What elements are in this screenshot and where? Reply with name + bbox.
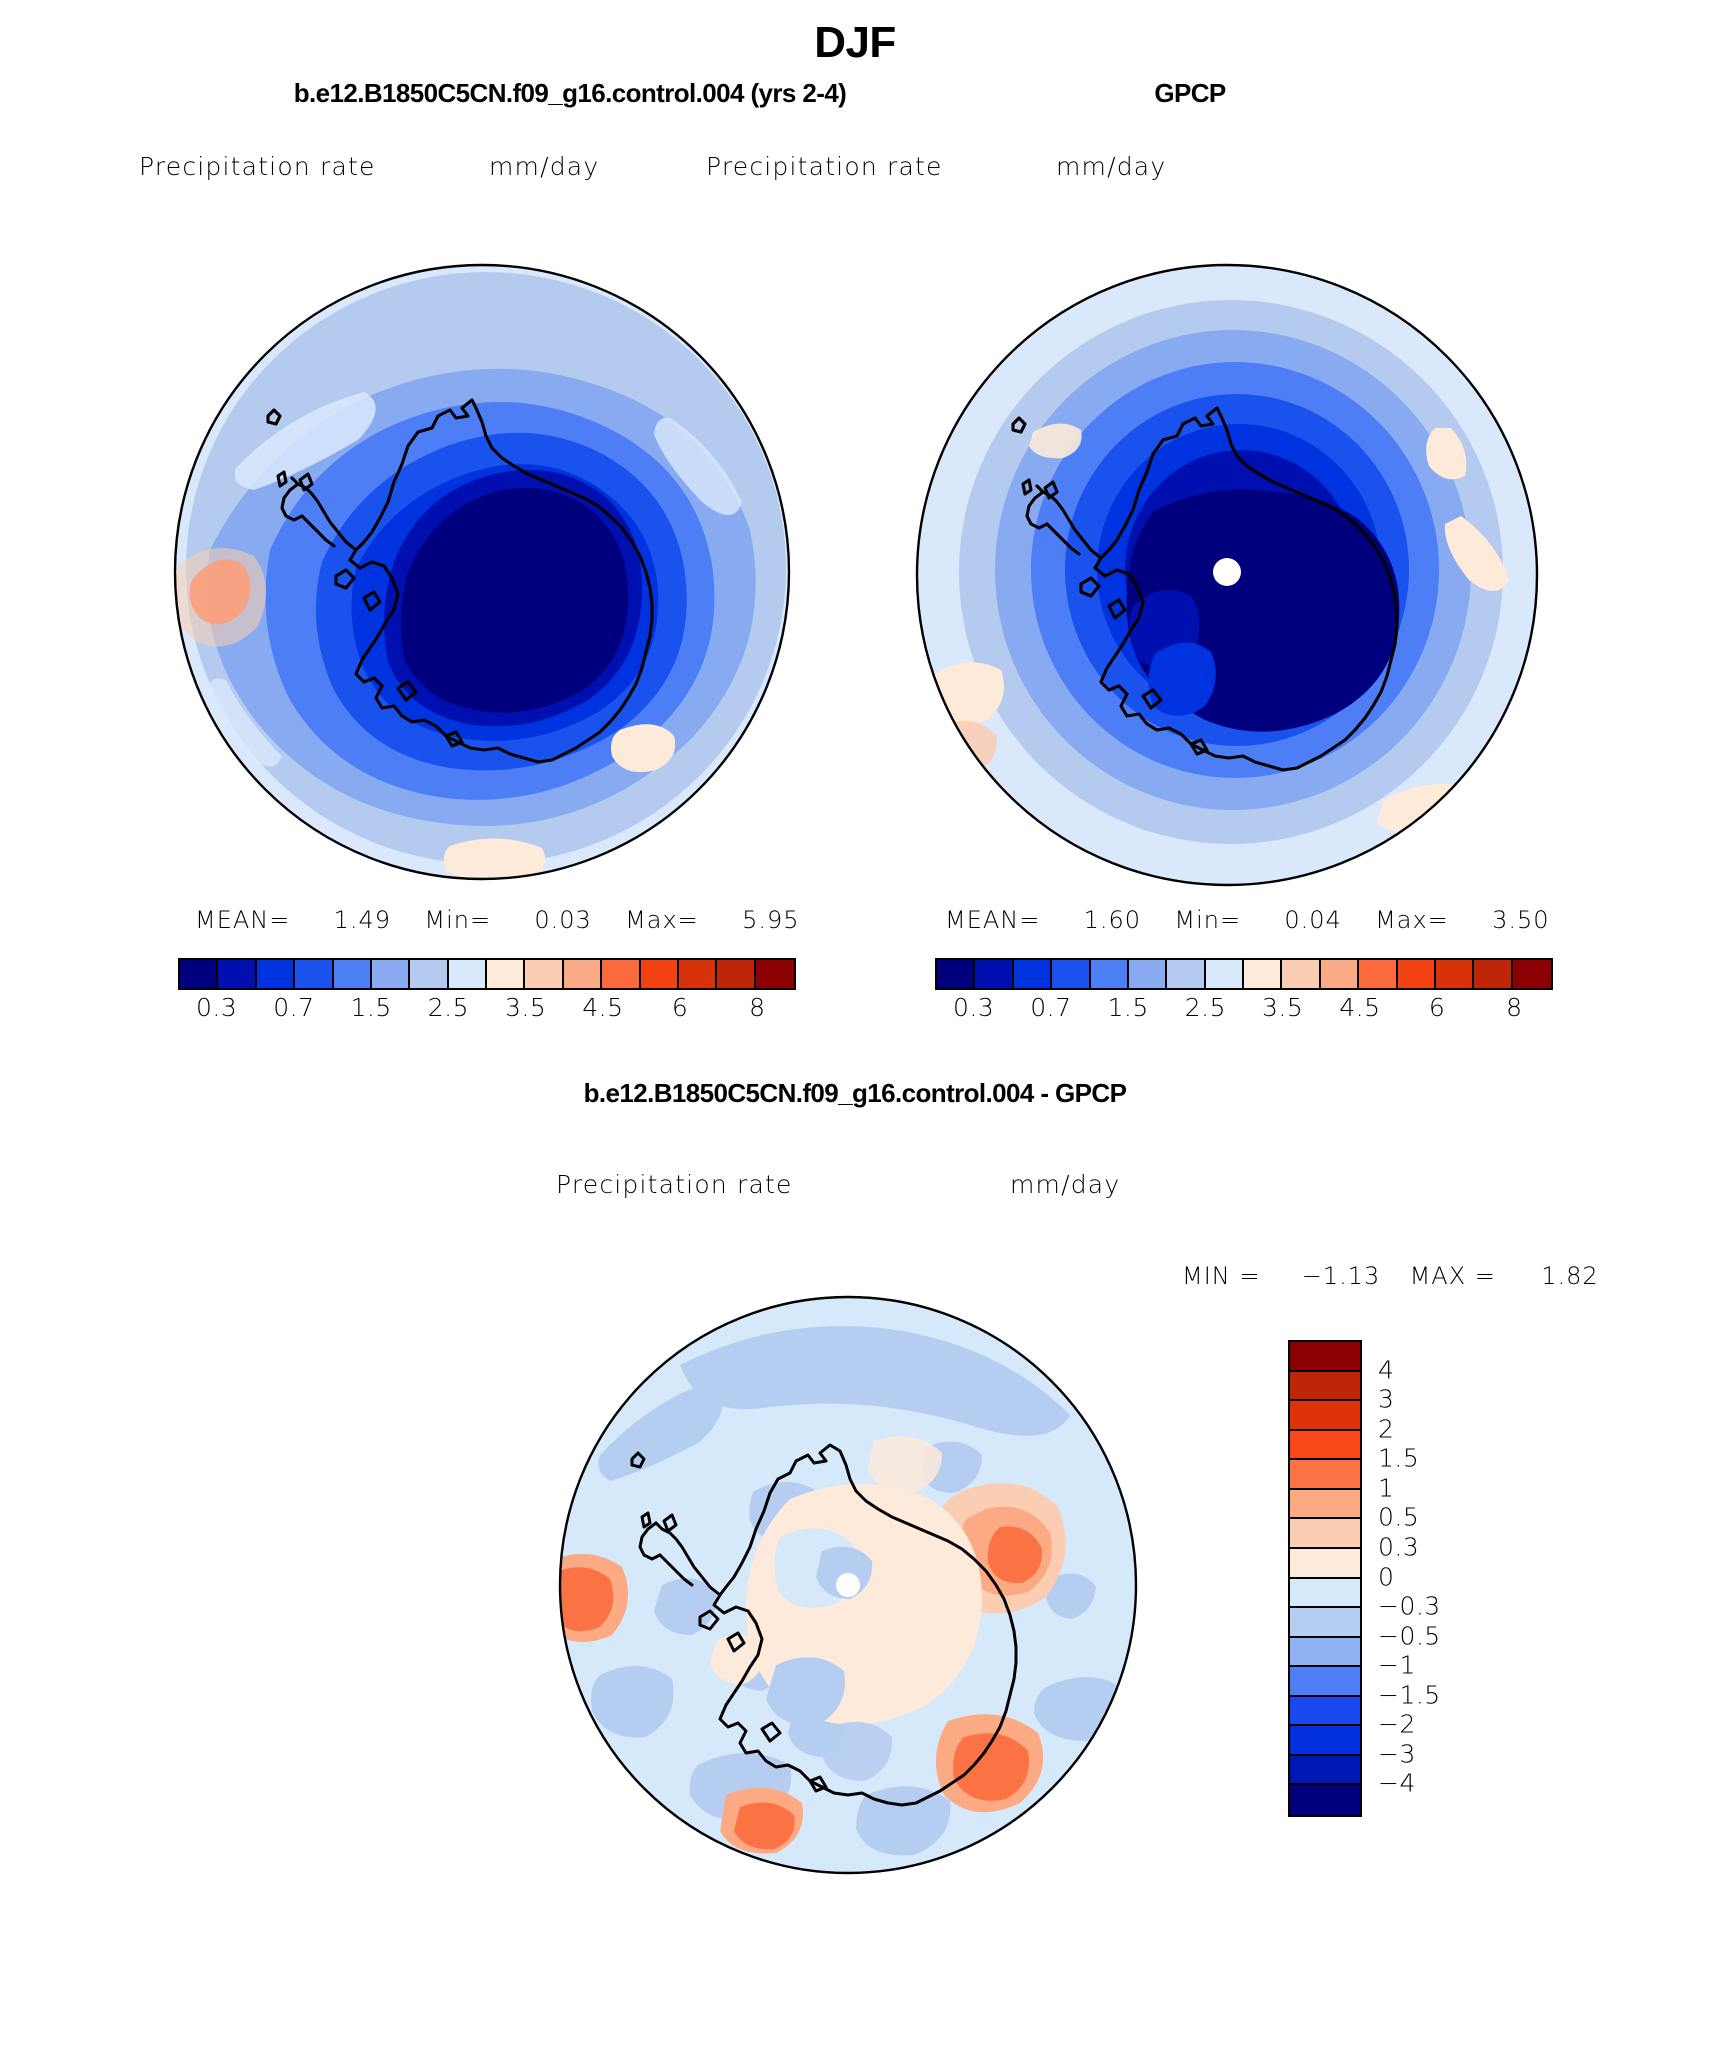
stats-mean-value-model: 1.49 [334, 906, 391, 934]
colorbar-swatch [1290, 1372, 1360, 1402]
stats-min-value-difference: −1.13 [1302, 1262, 1381, 1290]
stats-model: MEAN= 1.49 Min= 0.03 Max= 5.95 [195, 906, 800, 934]
colorbar-swatch [1290, 1549, 1360, 1579]
stats-max-value-model: 5.95 [742, 906, 799, 934]
colorbar-swatch [1282, 960, 1320, 988]
stats-obs: MEAN= 1.60 Min= 0.04 Max= 3.50 [945, 906, 1550, 934]
colorbar-difference [1288, 1340, 1362, 1817]
colorbar-tick-label: 2 [1378, 1414, 1488, 1443]
colorbar-swatch [717, 960, 755, 988]
panel-title-obs: GPCP [700, 78, 1680, 109]
colorbar-tick-label: 2.5 [428, 993, 469, 1022]
pole-missing-data-dot [836, 1573, 860, 1597]
colorbar-tick-label: 8 [1506, 993, 1522, 1022]
colorbar-tick-label: 0.3 [953, 993, 994, 1022]
panel-variable-label-difference: Precipitation rate [556, 1170, 793, 1199]
panel-units-label-model: mm/day [489, 152, 599, 181]
colorbar-ticks-obs: 0.30.71.52.53.54.568 [935, 993, 1549, 1027]
colorbar-swatch [1167, 960, 1205, 988]
colorbar-swatch [257, 960, 295, 988]
colorbar-swatch [1290, 1342, 1360, 1372]
colorbar-swatch [1290, 1490, 1360, 1520]
colorbar-swatch [1474, 960, 1512, 988]
colorbar-swatch [1290, 1726, 1360, 1756]
colorbar-tick-label: 1.5 [1378, 1444, 1488, 1473]
colorbar-tick-label: 4.5 [582, 993, 623, 1022]
colorbar-swatch [1014, 960, 1052, 988]
colorbar-tick-label: 1.5 [1107, 993, 1148, 1022]
colorbar-tick-label: −0.3 [1378, 1592, 1488, 1621]
colorbar-obs [935, 958, 1553, 990]
colorbar-swatch [410, 960, 448, 988]
pole-missing-data-dot [1213, 558, 1241, 586]
colorbar-swatch [1129, 960, 1167, 988]
colorbar-ticks-model: 0.30.71.52.53.54.568 [178, 993, 792, 1027]
colorbar-swatch [1290, 1756, 1360, 1786]
colorbar-tick-label: −2 [1378, 1710, 1488, 1739]
colorbar-swatch [1398, 960, 1436, 988]
colorbar-swatch [1290, 1431, 1360, 1461]
colorbar-tick-label: 4.5 [1339, 993, 1380, 1022]
panel-units-label-obs: mm/day [1056, 152, 1166, 181]
colorbar-tick-label: 0.3 [196, 993, 237, 1022]
colorbar-tick-label: 3 [1378, 1385, 1488, 1414]
colorbar-swatch [372, 960, 410, 988]
colorbar-swatch [1290, 1667, 1360, 1697]
stats-min-value-model: 0.03 [534, 906, 591, 934]
colorbar-model [178, 958, 796, 990]
colorbar-tick-label: 3.5 [1262, 993, 1303, 1022]
colorbar-tick-label: 6 [1429, 993, 1445, 1022]
polar-map-model [150, 250, 810, 900]
colorbar-tick-label: 0 [1378, 1562, 1488, 1591]
stats-min-label-difference: MIN = [1182, 1262, 1260, 1290]
colorbar-swatch [449, 960, 487, 988]
colorbar-tick-label: −1 [1378, 1651, 1488, 1680]
colorbar-swatch [1359, 960, 1397, 988]
colorbar-tick-label: 4 [1378, 1355, 1488, 1384]
stats-max-value-obs: 3.50 [1492, 906, 1549, 934]
colorbar-tick-label: −1.5 [1378, 1680, 1488, 1709]
stats-max-label-difference: MAX = [1410, 1262, 1496, 1290]
colorbar-swatch [525, 960, 563, 988]
colorbar-tick-label: 0.7 [273, 993, 314, 1022]
colorbar-swatch [1290, 1579, 1360, 1609]
colorbar-swatch [602, 960, 640, 988]
colorbar-swatch [1052, 960, 1090, 988]
stats-max-label-model: Max= [625, 906, 699, 934]
colorbar-swatch [218, 960, 256, 988]
colorbar-tick-label: 1 [1378, 1473, 1488, 1502]
stats-mean-value-obs: 1.60 [1084, 906, 1141, 934]
colorbar-swatch [1513, 960, 1551, 988]
colorbar-ticks-difference: 4321.510.50.30−0.3−0.5−1−1.5−2−3−4 [1378, 1340, 1498, 1813]
colorbar-tick-label: 2.5 [1185, 993, 1226, 1022]
colorbar-swatch [1290, 1519, 1360, 1549]
colorbar-swatch [1290, 1608, 1360, 1638]
panel-units-label-difference: mm/day [1010, 1170, 1120, 1199]
colorbar-swatch [679, 960, 717, 988]
stats-max-label-obs: Max= [1375, 906, 1449, 934]
stats-mean-label-obs: MEAN= [945, 906, 1040, 934]
colorbar-tick-label: 1.5 [350, 993, 391, 1022]
colorbar-swatch [1290, 1401, 1360, 1431]
panel-title-difference: b.e12.B1850C5CN.f09_g16.control.004 - GP… [0, 1078, 1710, 1109]
panel-variable-label-obs: Precipitation rate [706, 152, 943, 181]
colorbar-swatch [295, 960, 333, 988]
colorbar-swatch [334, 960, 372, 988]
colorbar-tick-label: 0.7 [1030, 993, 1071, 1022]
colorbar-tick-label: −0.5 [1378, 1621, 1488, 1650]
colorbar-swatch [1244, 960, 1282, 988]
colorbar-swatch [564, 960, 602, 988]
colorbar-swatch [487, 960, 525, 988]
polar-map-obs [905, 250, 1565, 910]
colorbar-tick-label: 8 [749, 993, 765, 1022]
colorbar-swatch [1290, 1460, 1360, 1490]
stats-mean-label-model: MEAN= [195, 906, 290, 934]
stats-min-value-obs: 0.04 [1284, 906, 1341, 934]
stats-min-label-obs: Min= [1174, 906, 1241, 934]
colorbar-swatch [975, 960, 1013, 988]
colorbar-swatch [1091, 960, 1129, 988]
colorbar-tick-label: 0.5 [1378, 1503, 1488, 1532]
colorbar-swatch [1290, 1785, 1360, 1815]
stats-difference: MIN = −1.13 MAX = 1.82 [1182, 1262, 1599, 1290]
colorbar-tick-label: 0.3 [1378, 1532, 1488, 1561]
colorbar-tick-label: 6 [672, 993, 688, 1022]
figure-season-title: DJF [0, 18, 1710, 68]
panel-variable-label-model: Precipitation rate [139, 152, 376, 181]
colorbar-swatch [1321, 960, 1359, 988]
colorbar-swatch [1206, 960, 1244, 988]
colorbar-tick-label: −4 [1378, 1769, 1488, 1798]
colorbar-swatch [1290, 1638, 1360, 1668]
colorbar-swatch [1436, 960, 1474, 988]
colorbar-swatch [180, 960, 218, 988]
colorbar-tick-label: −3 [1378, 1739, 1488, 1768]
polar-map-difference [530, 1255, 1190, 1915]
stats-min-label-model: Min= [424, 906, 491, 934]
colorbar-swatch [641, 960, 679, 988]
stats-max-value-difference: 1.82 [1541, 1262, 1598, 1290]
colorbar-swatch [1290, 1697, 1360, 1727]
colorbar-swatch [756, 960, 794, 988]
colorbar-swatch [937, 960, 975, 988]
colorbar-tick-label: 3.5 [505, 993, 546, 1022]
